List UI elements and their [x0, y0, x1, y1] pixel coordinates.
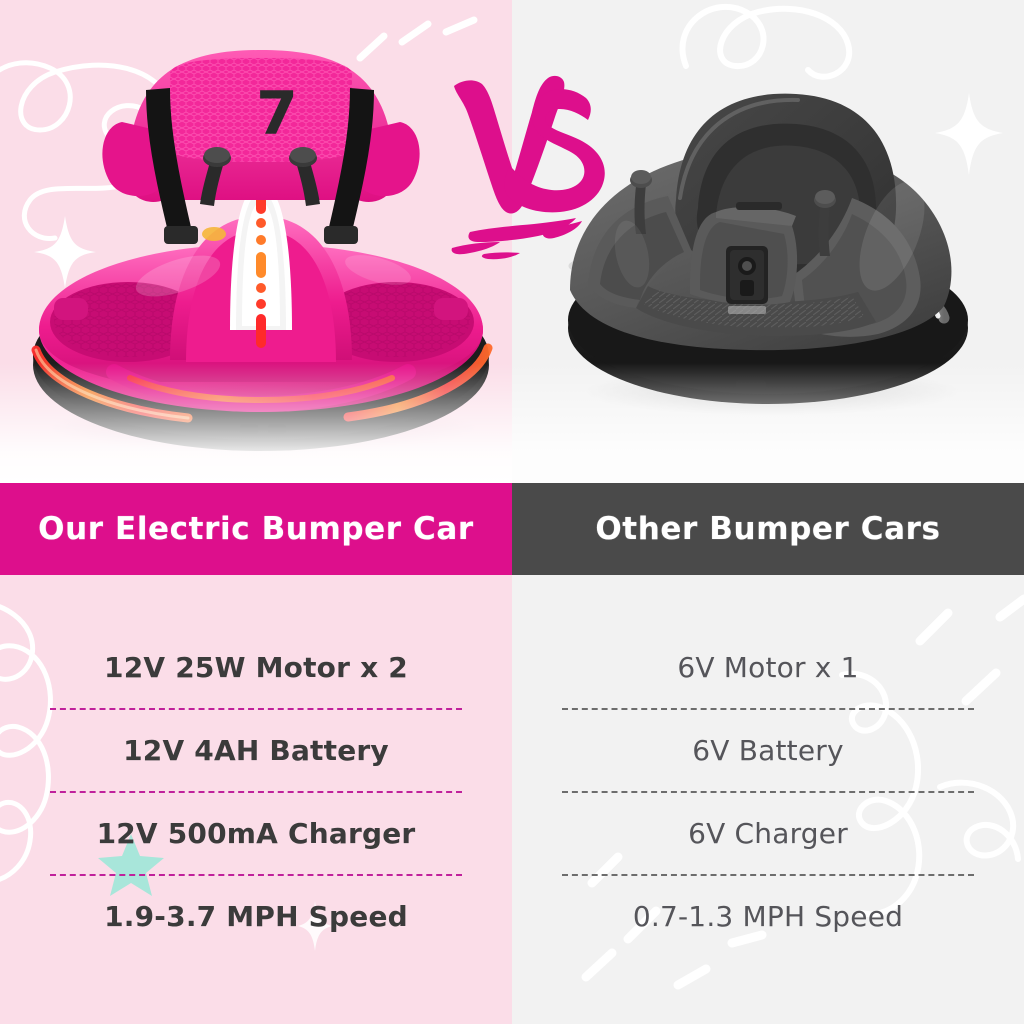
spec-value: 1.9-3.7 MPH Speed	[104, 900, 408, 933]
vs-brushstroke-icon	[440, 62, 620, 262]
spec-row: 12V 25W Motor x 2	[46, 627, 466, 708]
spec-row: 12V 500mA Charger	[46, 793, 466, 874]
spec-value: 12V 25W Motor x 2	[104, 651, 408, 684]
spec-comparison-table: 12V 25W Motor x 2 12V 4AH Battery 12V 50…	[0, 575, 1024, 1024]
pink-bumper-car-image: 7	[18, 30, 498, 460]
spec-row: 12V 4AH Battery	[46, 710, 466, 791]
banner-right-label: Other Bumper Cars	[595, 511, 940, 547]
spec-list-others: 6V Motor x 1 6V Battery 6V Charger 0.7-1…	[512, 575, 1024, 1024]
banner-other-products: Other Bumper Cars	[512, 483, 1024, 575]
spec-value: 0.7-1.3 MPH Speed	[633, 900, 903, 933]
spec-row: 6V Charger	[558, 793, 978, 874]
banner-left-label: Our Electric Bumper Car	[38, 511, 474, 547]
hero-section: 7	[0, 0, 1024, 483]
spec-value: 6V Charger	[688, 817, 848, 850]
spec-value: 12V 4AH Battery	[123, 734, 389, 767]
banner-our-product: Our Electric Bumper Car	[0, 483, 512, 575]
comparison-page: 7	[0, 0, 1024, 1024]
spec-column-ours: 12V 25W Motor x 2 12V 4AH Battery 12V 50…	[0, 575, 512, 1024]
spec-value: 6V Motor x 1	[677, 651, 858, 684]
spec-row: 0.7-1.3 MPH Speed	[558, 876, 978, 957]
banner-row: Our Electric Bumper Car Other Bumper Car…	[0, 483, 1024, 575]
hero-left-panel: 7	[0, 0, 512, 483]
spec-list-ours: 12V 25W Motor x 2 12V 4AH Battery 12V 50…	[0, 575, 512, 1024]
spec-row: 6V Motor x 1	[558, 627, 978, 708]
spec-value: 12V 500mA Charger	[97, 817, 416, 850]
spec-column-others: 6V Motor x 1 6V Battery 6V Charger 0.7-1…	[512, 575, 1024, 1024]
vs-badge	[440, 62, 620, 262]
spec-row: 6V Battery	[558, 710, 978, 791]
racing-number: 7	[256, 79, 298, 149]
spec-row: 1.9-3.7 MPH Speed	[46, 876, 466, 957]
spec-value: 6V Battery	[692, 734, 844, 767]
